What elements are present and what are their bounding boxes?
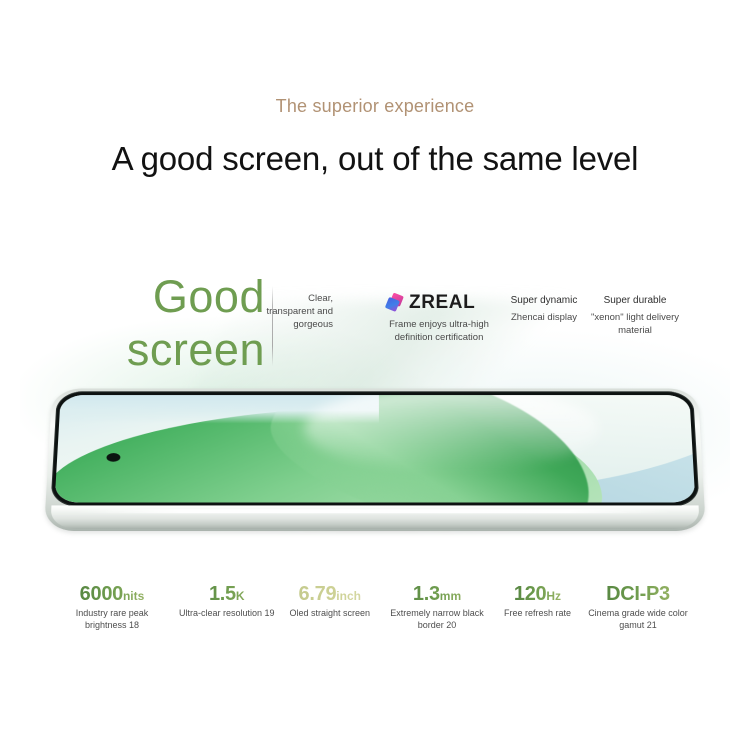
zreal-logo-row: ZREAL bbox=[385, 290, 493, 314]
spec-unit: nits bbox=[123, 589, 144, 603]
spec-number: 1.5 bbox=[209, 583, 236, 605]
hero-claim-line2: screen bbox=[55, 323, 265, 376]
spec-unit: Hz bbox=[546, 589, 561, 603]
spec-value: 6000nits bbox=[60, 583, 164, 607]
spec-value: DCI-P3 bbox=[586, 583, 690, 607]
phone-edge-highlight bbox=[75, 509, 673, 513]
phone-chassis bbox=[44, 388, 706, 531]
spec-number: 120 bbox=[514, 583, 546, 605]
hero-subtext: Clear, transparent and gorgeous bbox=[265, 292, 333, 331]
spec-item-bezel: 1.3mm Extremely narrow black border 20 bbox=[385, 583, 489, 631]
spec-row: 6000nits Industry rare peak brightness 1… bbox=[60, 583, 690, 639]
spec-description: Oled straight screen bbox=[289, 608, 370, 620]
spec-description: Extremely narrow black border 20 bbox=[385, 608, 489, 631]
spec-number: 6000 bbox=[80, 583, 123, 605]
zreal-wordmark: ZREAL bbox=[409, 293, 475, 312]
spec-item-refresh-rate: 120Hz Free refresh rate bbox=[504, 583, 571, 620]
feature-body: Zhencai display bbox=[503, 312, 585, 325]
spec-item-resolution: 1.5K Ultra-clear resolution 19 bbox=[179, 583, 275, 620]
spec-value: 6.79inch bbox=[289, 583, 370, 607]
page-title: A good screen, out of the same level bbox=[0, 138, 750, 179]
spec-value: 120Hz bbox=[504, 583, 571, 607]
phone-bezel bbox=[50, 391, 699, 506]
spec-number: DCI-P3 bbox=[606, 583, 670, 605]
feature-zreal: ZREAL Frame enjoys ultra-high definition… bbox=[385, 290, 493, 344]
eyebrow-text: The superior experience bbox=[0, 96, 750, 118]
spec-description: Industry rare peak brightness 18 bbox=[60, 608, 164, 631]
page-header: The superior experience A good screen, o… bbox=[0, 0, 750, 179]
hero-claim: Good screen bbox=[55, 270, 265, 376]
feature-super-durable: Super durable "xenon" light delivery mat… bbox=[590, 290, 680, 337]
spec-value: 1.5K bbox=[179, 583, 275, 607]
hero-callouts: Good screen Clear, transparent and gorge… bbox=[0, 270, 750, 380]
spec-description: Free refresh rate bbox=[504, 608, 571, 620]
product-image-phone bbox=[44, 383, 706, 543]
spec-unit: inch bbox=[336, 589, 361, 603]
spec-value: 1.3mm bbox=[385, 583, 489, 607]
spec-number: 1.3 bbox=[413, 583, 440, 605]
hero-claim-line1: Good bbox=[153, 271, 265, 322]
spec-description: Cinema grade wide color gamut 21 bbox=[586, 608, 690, 631]
spec-description: Ultra-clear resolution 19 bbox=[179, 608, 275, 620]
spec-unit: K bbox=[236, 589, 245, 603]
zreal-logo-icon bbox=[385, 293, 404, 312]
spec-item-screen-size: 6.79inch Oled straight screen bbox=[289, 583, 370, 620]
zreal-caption: Frame enjoys ultra-high definition certi… bbox=[385, 319, 493, 344]
spec-item-color-gamut: DCI-P3 Cinema grade wide color gamut 21 bbox=[586, 583, 690, 631]
spec-number: 6.79 bbox=[299, 583, 337, 605]
certification-features: ZREAL Frame enjoys ultra-high definition… bbox=[385, 290, 675, 360]
feature-super-dynamic: Super dynamic Zhencai display bbox=[503, 290, 585, 325]
spec-item-brightness: 6000nits Industry rare peak brightness 1… bbox=[60, 583, 164, 631]
feature-head: Super durable bbox=[590, 290, 680, 312]
feature-body: "xenon" light delivery material bbox=[590, 312, 680, 337]
spec-unit: mm bbox=[440, 589, 461, 603]
phone-screen bbox=[55, 395, 696, 502]
product-feature-page: The superior experience A good screen, o… bbox=[0, 0, 750, 750]
feature-head: Super dynamic bbox=[503, 290, 585, 312]
